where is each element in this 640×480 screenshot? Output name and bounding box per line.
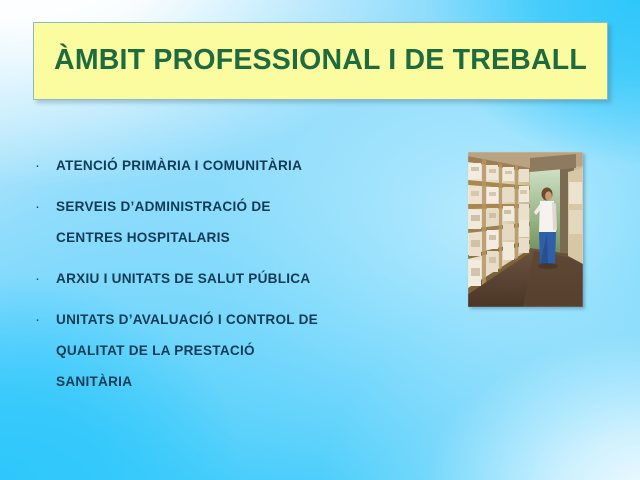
archive-photo-illustration: [468, 152, 583, 307]
list-item-text: ARXIU I UNITATS DE SALUT PÚBLICA: [56, 263, 450, 294]
list-item-line: ATENCIÓ PRIMÀRIA I COMUNITÀRIA: [56, 150, 450, 181]
title-box: ÀMBIT PROFESSIONAL I DE TREBALL: [33, 22, 608, 100]
list-item-text: ATENCIÓ PRIMÀRIA I COMUNITÀRIA: [56, 150, 450, 181]
list-item-line: QUALITAT DE LA PRESTACIÓ: [56, 335, 450, 366]
bullet-dot-icon: ·: [30, 191, 56, 222]
list-item: · SERVEIS D’ADMINISTRACIÓ DE CENTRES HOS…: [30, 191, 450, 253]
list-item: · ATENCIÓ PRIMÀRIA I COMUNITÀRIA: [30, 150, 450, 181]
bullet-dot-icon: ·: [30, 304, 56, 335]
bullet-dot-icon: ·: [30, 150, 56, 181]
list-item-text: UNITATS D’AVALUACIÓ I CONTROL DE QUALITA…: [56, 304, 450, 397]
list-item-line: SANITÀRIA: [56, 366, 450, 397]
list-item-line: CENTRES HOSPITALARIS: [56, 222, 450, 253]
list-item-text: SERVEIS D’ADMINISTRACIÓ DE CENTRES HOSPI…: [56, 191, 450, 253]
page-title: ÀMBIT PROFESSIONAL I DE TREBALL: [54, 45, 587, 76]
list-item-line: ARXIU I UNITATS DE SALUT PÚBLICA: [56, 263, 450, 294]
list-item: · ARXIU I UNITATS DE SALUT PÚBLICA: [30, 263, 450, 294]
slide: ÀMBIT PROFESSIONAL I DE TREBALL · ATENCI…: [0, 0, 640, 480]
list-item-line: UNITATS D’AVALUACIÓ I CONTROL DE: [56, 304, 450, 335]
list-item: · UNITATS D’AVALUACIÓ I CONTROL DE QUALI…: [30, 304, 450, 397]
bullet-dot-icon: ·: [30, 263, 56, 294]
archive-storage-room-photo: [468, 152, 583, 307]
list-item-line: SERVEIS D’ADMINISTRACIÓ DE: [56, 191, 450, 222]
bullet-list: · ATENCIÓ PRIMÀRIA I COMUNITÀRIA · SERVE…: [30, 150, 450, 407]
